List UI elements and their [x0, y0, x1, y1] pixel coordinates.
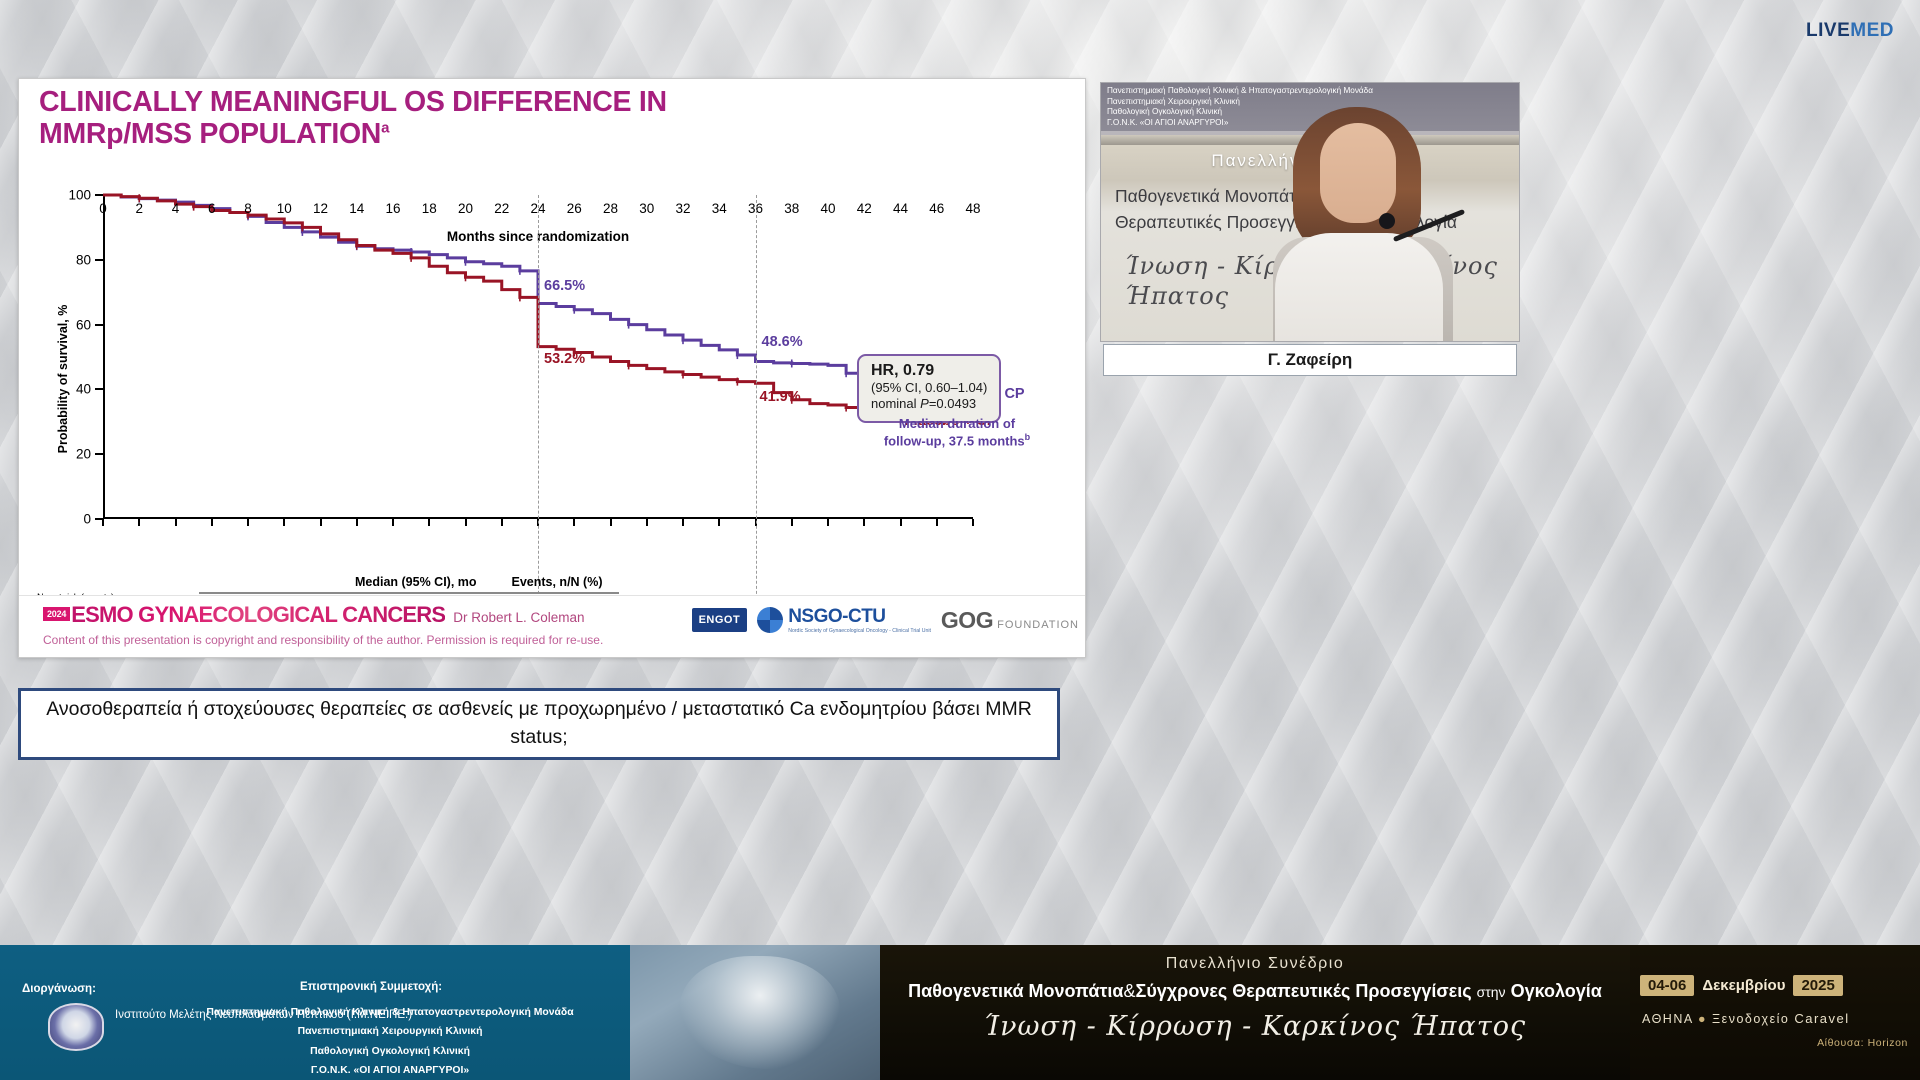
banner-script-title: Ίνωση - Κίρρωση - Καρκίνος Ήπατος — [880, 1011, 1630, 1042]
x-tick — [791, 519, 793, 526]
hazard-ratio-box: HR, 0.79 (95% CI, 0.60–1.04) nominal P=0… — [857, 354, 1001, 423]
banner-title-part2: Σύγχρονες Θεραπευτικές Προσεγγίσεις — [1136, 981, 1472, 1001]
hr-p-number: =0.0493 — [929, 396, 976, 411]
median-followup-line2: follow-up, 37.5 months — [884, 434, 1025, 449]
x-tick — [283, 519, 285, 526]
plot-area: Months since randomization 0204060801000… — [103, 195, 973, 519]
x-tick — [211, 519, 213, 526]
x-tick — [392, 519, 394, 526]
x-tick — [465, 519, 467, 526]
banner-date-month: Δεκεμβρίου — [1702, 977, 1785, 994]
x-tick — [718, 519, 720, 526]
x-tick — [827, 519, 829, 526]
x-tick-label: 34 — [712, 201, 727, 216]
x-tick — [646, 519, 648, 526]
median-followup-marker: b — [1025, 432, 1031, 442]
banner-hotel: Caravel — [1794, 1011, 1849, 1026]
x-tick-label: 16 — [385, 201, 400, 216]
nsgo-subtitle: Nordic Society of Gynaecological Oncolog… — [788, 628, 931, 634]
esmo-copyright: Content of this presentation is copyrigh… — [43, 633, 603, 647]
microphone-head-icon — [1379, 213, 1395, 229]
slide-title-line2: MMRp/MSS POPULATION — [39, 118, 381, 150]
presentation-slide: CLINICALLY MEANINGFUL OS DIFFERENCE IN M… — [18, 78, 1086, 658]
esmo-branding: 2024ESMO GYNAECOLOGICAL CANCERSDr Robert… — [43, 602, 585, 628]
reference-line — [756, 195, 757, 658]
livemed-med: MED — [1850, 20, 1894, 41]
x-tick — [936, 519, 938, 526]
x-tick — [102, 519, 104, 526]
esmo-year-badge: 2024 — [43, 607, 70, 621]
stats-header-row: Median (95% CI), mo Events, n/N (%) — [199, 575, 619, 593]
x-tick-label: 44 — [893, 201, 908, 216]
slide-title: CLINICALLY MEANINGFUL OS DIFFERENCE IN M… — [39, 87, 667, 151]
x-tick-label: 4 — [172, 201, 180, 216]
livemed-live: LIVE — [1806, 20, 1850, 41]
banner-title-block: Πανελλήνιο Συνέδριο Παθογενετικά Μονοπάτ… — [880, 945, 1630, 1080]
banner-date-days: 04-06 — [1640, 975, 1694, 996]
x-tick-label: 14 — [349, 201, 364, 216]
median-followup-line1: Median duration of — [899, 416, 1015, 431]
scientific-line: Παθολογική Ογκολογική Κλινική — [170, 1042, 610, 1061]
x-tick-label: 8 — [244, 201, 252, 216]
stats-header-arm — [199, 575, 337, 593]
banner-venue-label: Ξενοδοχείο — [1712, 1012, 1789, 1026]
banner-venue: ΑΘΗΝΑ ● Ξενοδοχείο Caravel — [1642, 1011, 1850, 1026]
x-tick-label: 32 — [675, 201, 690, 216]
annotation-532: 53.2% — [544, 351, 585, 367]
gog-foundation-logo: GOG FOUNDATION — [941, 607, 1079, 634]
x-tick-label: 0 — [99, 201, 107, 216]
banner-title-part4: Ογκολογία — [1511, 981, 1602, 1001]
x-tick-label: 46 — [929, 201, 944, 216]
banner-congress-label: Πανελλήνιο Συνέδριο — [880, 955, 1630, 973]
speaker-face — [1320, 123, 1396, 223]
y-tick — [95, 388, 103, 390]
x-tick-label: 28 — [603, 201, 618, 216]
x-tick-label: 12 — [313, 201, 328, 216]
nsgo-text: NSGO-CTUNordic Society of Gynaecological… — [788, 606, 931, 634]
speaker-video-panel[interactable]: Πανεπιστημιακή Παθολογική Κλινική & Ηπατ… — [1100, 82, 1520, 342]
nsgo-ctu-logo: NSGO-CTUNordic Society of Gynaecological… — [757, 606, 931, 634]
scientific-label: Επιστηρονική Συμμετοχή: — [300, 981, 442, 993]
scientific-participants: Πανεπιστημιακή Παθολογική Κλινική & Ηπατ… — [170, 1003, 610, 1080]
banner-title-part3: στην — [1477, 984, 1506, 1000]
y-tick-label: 100 — [68, 188, 91, 203]
x-tick-label: 42 — [857, 201, 872, 216]
x-tick — [573, 519, 575, 526]
y-tick-label: 0 — [83, 512, 91, 527]
x-tick-label: 10 — [277, 201, 292, 216]
x-tick-label: 2 — [135, 201, 143, 216]
speaker-torso — [1275, 233, 1443, 342]
y-tick — [95, 194, 103, 196]
x-tick — [175, 519, 177, 526]
banner-dates: 04-06 Δεκεμβρίου 2025 — [1640, 975, 1843, 996]
speaker-name: Γ. Ζαφείρη — [1268, 350, 1353, 370]
slide-title-footnote-marker: a — [381, 119, 389, 136]
session-caption: Ανοσοθεραπεία ή στοχεύουσες θεραπείες σε… — [18, 688, 1060, 760]
x-tick-label: 18 — [422, 201, 437, 216]
slide-title-line1: CLINICALLY MEANINGFUL OS DIFFERENCE IN — [39, 86, 667, 118]
x-tick-label: 22 — [494, 201, 509, 216]
annotation-486: 48.6% — [762, 334, 803, 350]
imnepe-logo-icon — [48, 1003, 104, 1051]
hr-p-prefix: nominal — [871, 396, 920, 411]
partner-logos: ENGOT NSGO-CTUNordic Society of Gynaecol… — [692, 606, 1079, 634]
banner-organizers: Διοργάνωση: Ινστιτούτο Μελέτης Νεοπλασμά… — [0, 945, 630, 1080]
esmo-congress-name: ESMO GYNAECOLOGICAL CANCERS — [71, 602, 445, 627]
x-tick — [610, 519, 612, 526]
x-tick-label: 38 — [784, 201, 799, 216]
y-tick — [95, 324, 103, 326]
hr-pvalue: nominal P=0.0493 — [871, 396, 987, 412]
y-axis-label: Probability of survival, % — [56, 305, 70, 454]
x-tick — [138, 519, 140, 526]
banner-congress-title: Παθογενετικά Μονοπάτια&Σύγχρονες Θεραπευ… — [880, 981, 1630, 1002]
hr-ci: (95% CI, 0.60–1.04) — [871, 380, 987, 396]
banner-title-part1: Παθογενετικά Μονοπάτια — [908, 981, 1123, 1001]
banner-artwork — [630, 945, 880, 1080]
conference-banner: Διοργάνωση: Ινστιτούτο Μελέτης Νεοπλασμά… — [0, 945, 1920, 1080]
x-tick — [501, 519, 503, 526]
stats-header-events: Events, n/N (%) — [495, 575, 619, 593]
nsgo-mark-icon — [757, 607, 783, 633]
nsgo-name: NSGO-CTU — [788, 606, 885, 627]
annotation-665: 66.5% — [544, 278, 585, 294]
hr-p-symbol: P — [920, 396, 929, 411]
livemed-logo: LIVEMED — [1806, 20, 1894, 42]
video-affiliation-line: Πανεπιστημιακή Παθολογική Κλινική & Ηπατ… — [1107, 86, 1513, 97]
y-tick-label: 60 — [76, 317, 91, 332]
scientific-line: Πανεπιστημιακή Παθολογική Κλινική & Ηπατ… — [170, 1003, 610, 1022]
y-tick — [95, 259, 103, 261]
x-tick — [428, 519, 430, 526]
x-tick — [320, 519, 322, 526]
organizer-label: Διοργάνωση: — [22, 983, 96, 995]
x-tick — [356, 519, 358, 526]
banner-date-block: 04-06 Δεκεμβρίου 2025 ΑΘΗΝΑ ● Ξενοδοχείο… — [1630, 945, 1920, 1080]
banner-city: ΑΘΗΝΑ — [1642, 1012, 1693, 1026]
speaker-figure — [1273, 105, 1453, 342]
x-tick-label: 26 — [567, 201, 582, 216]
engot-logo: ENGOT — [692, 608, 748, 632]
banner-title-amp: & — [1124, 981, 1136, 1001]
gog-text: GOG — [941, 607, 993, 634]
x-tick — [682, 519, 684, 526]
x-tick — [247, 519, 249, 526]
hr-value: HR, 0.79 — [871, 362, 987, 380]
scientific-line: Γ.Ο.Ν.Κ. «ΟΙ ΑΓΙΟΙ ΑΝΑΡΓΥΡΟΙ» — [170, 1061, 610, 1080]
y-tick-label: 80 — [76, 252, 91, 267]
x-tick-label: 40 — [820, 201, 835, 216]
banner-room: Αίθουσα: Horizon — [1642, 1037, 1908, 1049]
esmo-author: Dr Robert L. Coleman — [453, 610, 584, 625]
x-tick — [900, 519, 902, 526]
x-tick-label: 6 — [208, 201, 216, 216]
y-tick-label: 40 — [76, 382, 91, 397]
median-followup-note: Median duration of follow-up, 37.5 month… — [857, 416, 1057, 450]
gog-foundation-text: FOUNDATION — [997, 619, 1079, 631]
x-tick-label: 30 — [639, 201, 654, 216]
esmo-footer-bar: 2024ESMO GYNAECOLOGICAL CANCERSDr Robert… — [19, 595, 1086, 657]
x-tick — [972, 519, 974, 526]
annotation-419: 41.9% — [760, 389, 801, 405]
x-tick-label: 20 — [458, 201, 473, 216]
speaker-name-bar: Γ. Ζαφείρη — [1103, 344, 1517, 376]
y-tick-label: 20 — [76, 447, 91, 462]
stats-header-median: Median (95% CI), mo — [337, 575, 496, 593]
banner-date-year: 2025 — [1793, 975, 1842, 996]
x-tick-label: 48 — [965, 201, 980, 216]
km-chart: Probability of survival, % Months since … — [19, 179, 1086, 579]
bullet-icon: ● — [1698, 1012, 1707, 1026]
y-tick — [95, 453, 103, 455]
x-tick — [863, 519, 865, 526]
scientific-line: Πανεπιστημιακή Χειρουργική Κλινική — [170, 1022, 610, 1041]
